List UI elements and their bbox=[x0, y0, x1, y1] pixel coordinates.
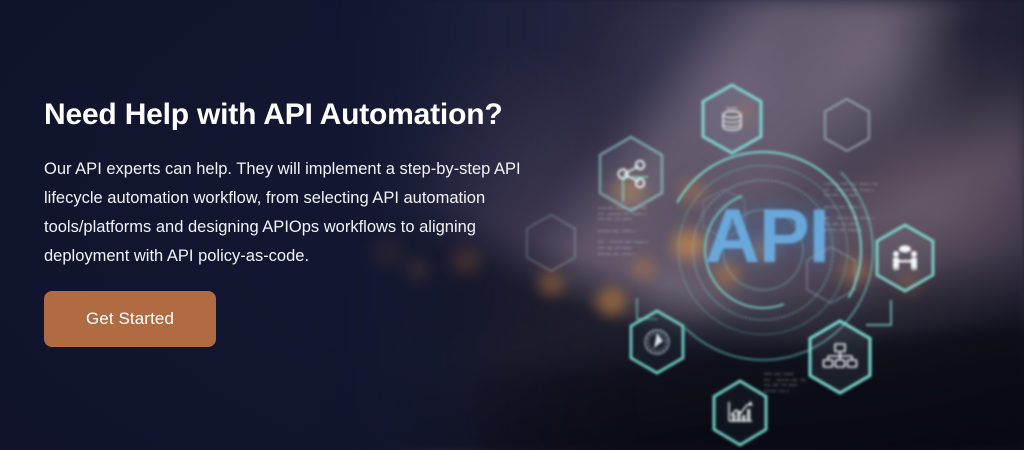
body-text: Our API experts can help. They will impl… bbox=[44, 155, 549, 271]
code-snippet: STAB:BO SORT:OUT BOOST:TOK OFF _ BUFFER:… bbox=[824, 182, 879, 233]
hex-badge-empty bbox=[820, 96, 874, 154]
hexagon-outline bbox=[820, 96, 874, 154]
hex-badge-share bbox=[594, 134, 668, 214]
hex-badge-growth bbox=[708, 378, 772, 448]
hexagon-outline bbox=[802, 244, 860, 306]
hex-badge-empty bbox=[698, 186, 750, 242]
org-chart-icon bbox=[804, 318, 876, 396]
hex-badge-org-chart bbox=[804, 318, 876, 396]
growth-chart-icon bbox=[708, 378, 772, 448]
page-title: Need Help with API Automation? bbox=[44, 98, 502, 132]
banner-content: Need Help with API Automation? Our API e… bbox=[44, 0, 584, 450]
get-started-button[interactable]: Get Started bbox=[44, 291, 216, 347]
svg-text:DATA: DATA bbox=[726, 106, 737, 111]
share-nodes-icon bbox=[594, 134, 668, 214]
promo-banner: API STAB:BO TOKEN1 HOOD:TOK OFF _BUFFER:… bbox=[0, 0, 1024, 450]
bokeh-light bbox=[596, 288, 626, 316]
hex-badge-database: DATA bbox=[698, 82, 766, 156]
hex-badge-empty bbox=[802, 244, 860, 306]
database-icon: DATA bbox=[698, 82, 766, 156]
people-deal-icon bbox=[872, 222, 938, 294]
hex-badge-people bbox=[872, 222, 938, 294]
gauge-icon bbox=[626, 308, 688, 376]
hex-badge-gauge bbox=[626, 308, 688, 376]
hexagon-outline bbox=[698, 186, 750, 242]
